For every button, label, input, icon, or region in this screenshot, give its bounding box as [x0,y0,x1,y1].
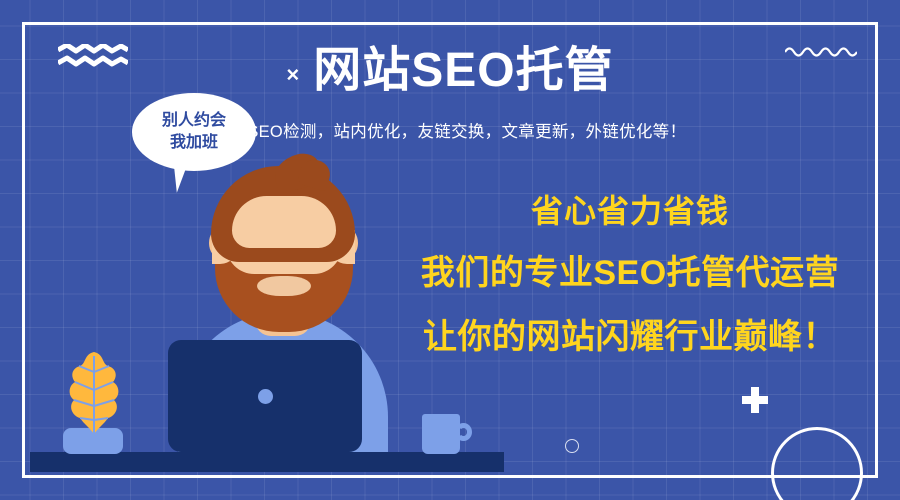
character-mouth [257,276,311,296]
slogan-line-2: 我们的专业SEO托管代运营 [380,255,880,292]
slogan-block: 省心省力省钱 我们的专业SEO托管代运营 让你的网站闪耀行业巅峰！ [380,194,880,356]
x-mark-icon: × [286,64,299,86]
small-circle-icon [565,439,579,453]
plus-mark-icon [742,387,768,413]
corner-circle-icon [771,427,863,500]
slogan-line-1: 省心省力省钱 [380,194,880,229]
desk-surface [30,452,504,472]
page-title: 网站SEO托管 [313,46,613,96]
plant-leaf-icon [58,350,130,436]
coffee-mug [422,414,460,454]
headline-row: × 网站SEO托管 [0,46,900,96]
seo-promo-banner: × 网站SEO托管 含：SEO检测，站内优化，友链交换，文章更新，外链优化等！ … [0,0,900,500]
speech-bubble-line-2: 我加班 [170,132,218,154]
character-forehead [232,196,336,248]
speech-bubble: 别人约会 我加班 [132,93,256,171]
speech-bubble-line-1: 别人约会 [162,110,226,132]
slogan-line-3: 让你的网站闪耀行业巅峰！ [380,319,880,356]
laptop-logo-dot-icon [258,389,273,404]
